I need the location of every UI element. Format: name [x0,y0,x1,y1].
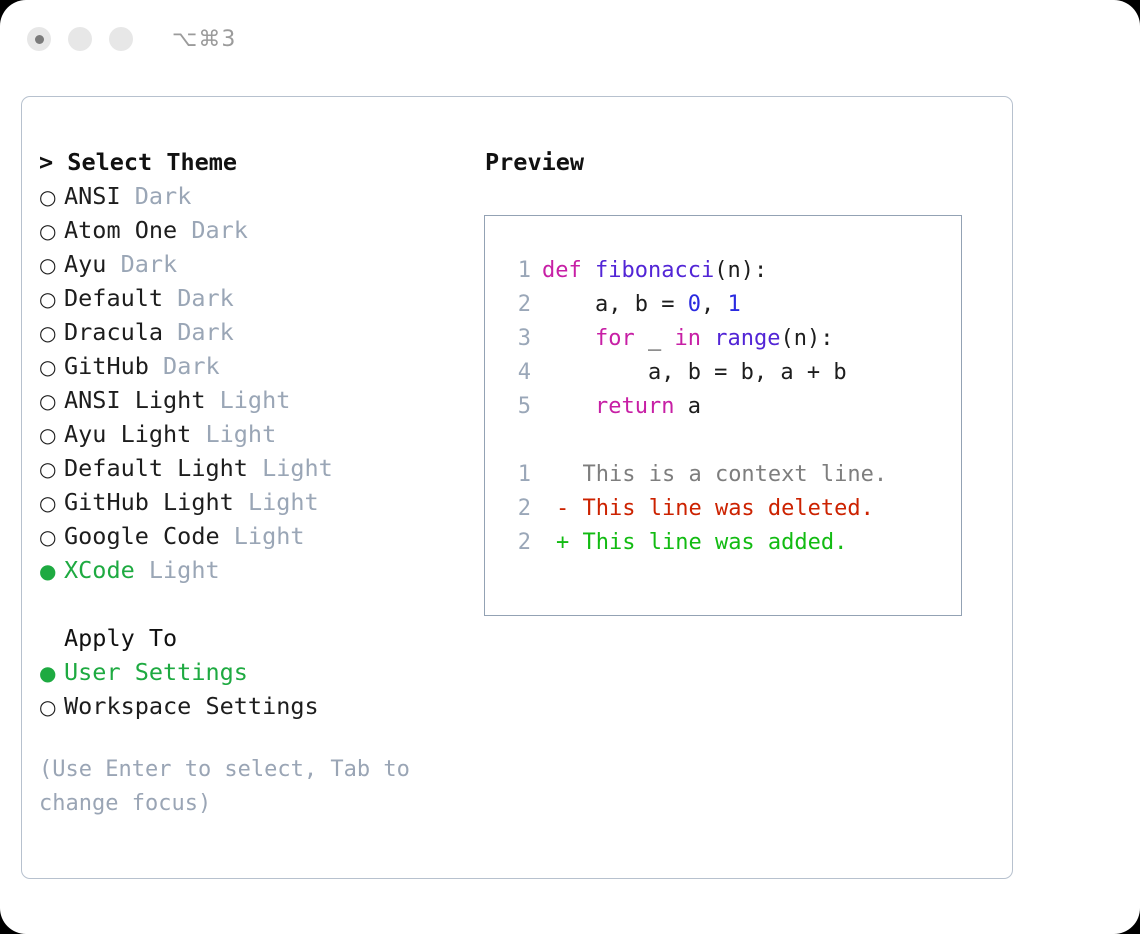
token-pln [542,394,595,419]
diff-line-deleted: 2- This line was deleted. [501,492,961,526]
code-sample: 1def fibonacci(n):2 a, b = 0, 13 for _ i… [501,254,961,424]
radio-selected-icon: ● [39,656,64,690]
theme-name: Default [64,281,177,315]
keyboard-shortcut-label: ⌥⌘3 [172,27,236,52]
token-pln: , [701,292,728,317]
diff-sign [542,458,569,492]
code-line: 4 a, b = b, a + b [501,356,961,390]
token-pln [582,258,595,283]
token-pln: a [674,394,701,419]
radio-unselected-icon: ○ [39,486,64,520]
diff-text: This line was deleted. [569,492,874,526]
theme-variant-tag: Light [234,519,305,553]
code-text: a, b = 0, 1 [542,288,741,322]
code-text: return a [542,390,701,424]
theme-name: Ayu [64,247,121,281]
theme-variant-tag: Dark [177,315,234,349]
diff-sample: 1 This is a context line.2- This line wa… [501,458,961,560]
theme-option-ayu[interactable]: ○Ayu Dark [39,247,484,281]
theme-variant-tag: Light [205,417,276,451]
record-dot-inner [35,35,44,44]
theme-option-xcode[interactable]: ●XCode Light [39,553,484,587]
line-number: 5 [501,390,542,424]
theme-variant-tag: Dark [121,247,178,281]
token-pln: a, b = b, a + b [542,360,847,385]
line-number: 2 [501,526,542,560]
theme-variant-tag: Light [262,451,333,485]
token-pln: a, b = [542,292,688,317]
diff-text: This line was added. [569,526,847,560]
theme-name: XCode [64,553,149,587]
theme-option-dracula[interactable]: ○Dracula Dark [39,315,484,349]
token-kw: in [674,326,701,351]
token-pln: (n): [714,258,767,283]
diff-sign: + [542,526,569,560]
theme-variant-tag: Dark [191,213,248,247]
theme-list[interactable]: ○ANSI Dark○Atom One Dark○Ayu Dark○Defaul… [39,179,484,587]
diff-sign: - [542,492,569,526]
radio-unselected-icon: ○ [39,520,64,554]
radio-unselected-icon: ○ [39,214,64,248]
apply-to-header: Apply To [39,621,484,655]
line-number: 2 [501,288,542,322]
theme-variant-tag: Dark [135,179,192,213]
theme-option-default[interactable]: ○Default Dark [39,281,484,315]
code-line: 1def fibonacci(n): [501,254,961,288]
app-window: ⌥⌘3 > Select Theme ○ANSI Dark○Atom One D… [0,0,1140,934]
radio-unselected-icon: ○ [39,248,64,282]
token-pln: _ [635,326,675,351]
apply-to-list[interactable]: ●User Settings○Workspace Settings [39,655,484,723]
preview-box: 1def fibonacci(n):2 a, b = 0, 13 for _ i… [484,215,962,616]
token-kw: for [595,326,635,351]
theme-name: Google Code [64,519,234,553]
preview-gap [501,424,961,458]
radio-unselected-icon: ○ [39,180,64,214]
theme-variant-tag: Light [220,383,291,417]
code-text: def fibonacci(n): [542,254,767,288]
token-pln: (n): [780,326,833,351]
main-panel: > Select Theme ○ANSI Dark○Atom One Dark○… [21,96,1013,879]
preview-column: Preview 1def fibonacci(n):2 a, b = 0, 13… [484,97,1012,878]
record-indicator-dot[interactable] [27,27,51,51]
line-number: 4 [501,356,542,390]
line-number: 1 [501,254,542,288]
radio-unselected-icon: ○ [39,418,64,452]
code-text: for _ in range(n): [542,322,833,356]
theme-name: Default Light [64,451,262,485]
theme-option-google-code[interactable]: ○Google Code Light [39,519,484,553]
radio-unselected-icon: ○ [39,452,64,486]
diff-text: This is a context line. [569,458,887,492]
preview-header: Preview [485,145,1012,179]
window-titlebar: ⌥⌘3 [0,0,1140,78]
list-spacer [39,587,484,621]
token-num: 0 [688,292,701,317]
diff-line-context: 1 This is a context line. [501,458,961,492]
token-kw: return [595,394,674,419]
theme-name: Dracula [64,315,177,349]
theme-selector-column: > Select Theme ○ANSI Dark○Atom One Dark○… [22,97,484,878]
radio-unselected-icon: ○ [39,350,64,384]
apply-option-label: User Settings [64,655,248,689]
theme-option-github[interactable]: ○GitHub Dark [39,349,484,383]
theme-name: Atom One [64,213,191,247]
theme-option-github-light[interactable]: ○GitHub Light Light [39,485,484,519]
token-fn: fibonacci [595,258,714,283]
titlebar-dot-2[interactable] [68,27,92,51]
radio-selected-icon: ● [39,554,64,588]
token-pln [701,326,714,351]
token-pln [542,326,595,351]
theme-name: ANSI [64,179,135,213]
apply-option-label: Workspace Settings [64,689,319,723]
theme-option-default-light[interactable]: ○Default Light Light [39,451,484,485]
theme-variant-tag: Light [149,553,220,587]
diff-line-added: 2+ This line was added. [501,526,961,560]
titlebar-dot-3[interactable] [109,27,133,51]
theme-variant-tag: Dark [177,281,234,315]
token-num: 1 [727,292,740,317]
theme-name: GitHub Light [64,485,248,519]
theme-variant-tag: Light [248,485,319,519]
keyboard-hint-text: (Use Enter to select, Tab to change focu… [39,753,439,821]
theme-option-ayu-light[interactable]: ○Ayu Light Light [39,417,484,451]
theme-option-atom-one[interactable]: ○Atom One Dark [39,213,484,247]
radio-unselected-icon: ○ [39,282,64,316]
code-line: 5 return a [501,390,961,424]
radio-unselected-icon: ○ [39,690,64,724]
line-number: 1 [501,458,542,492]
theme-name: ANSI Light [64,383,220,417]
token-fn: range [714,326,780,351]
theme-name: Ayu Light [64,417,205,451]
radio-unselected-icon: ○ [39,384,64,418]
token-kw: def [542,258,582,283]
code-text: a, b = b, a + b [542,356,847,390]
apply-option-workspace-settings[interactable]: ○Workspace Settings [39,689,484,723]
code-line: 2 a, b = 0, 1 [501,288,961,322]
line-number: 2 [501,492,542,526]
code-line: 3 for _ in range(n): [501,322,961,356]
theme-option-ansi[interactable]: ○ANSI Dark [39,179,484,213]
line-number: 3 [501,322,542,356]
select-theme-header: > Select Theme [39,145,484,179]
theme-name: GitHub [64,349,163,383]
radio-unselected-icon: ○ [39,316,64,350]
apply-option-user-settings[interactable]: ●User Settings [39,655,484,689]
theme-variant-tag: Dark [163,349,220,383]
theme-option-ansi-light[interactable]: ○ANSI Light Light [39,383,484,417]
